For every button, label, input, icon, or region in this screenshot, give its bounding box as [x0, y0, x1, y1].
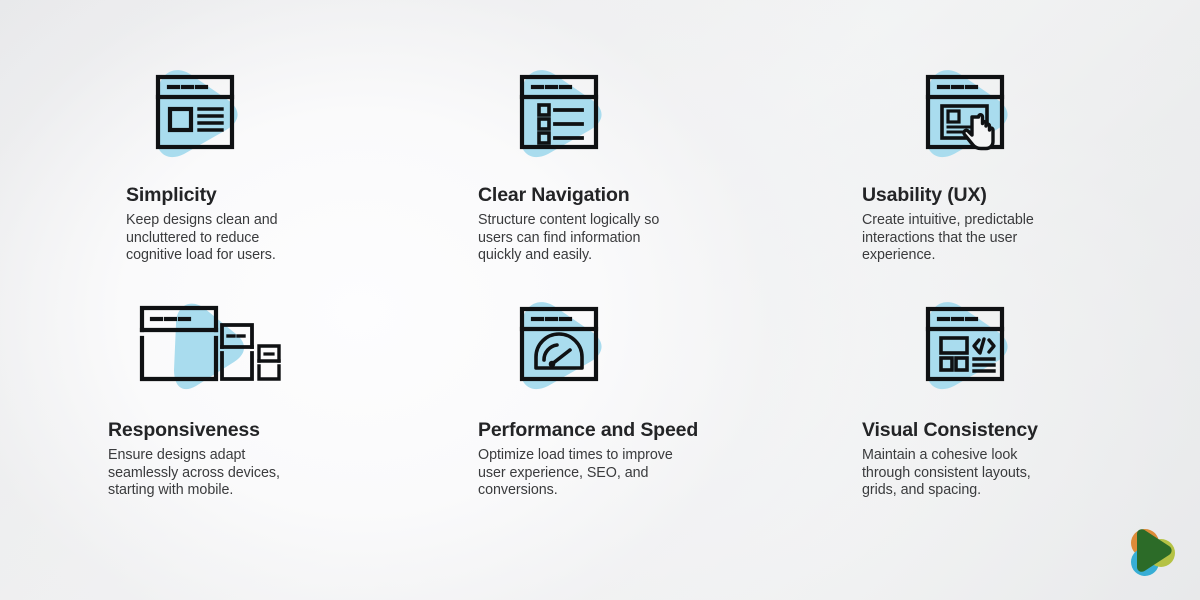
feature-card-simplicity: Simplicity Keep designs clean and unclut…	[126, 60, 456, 264]
feature-card-performance-and-speed: Performance and Speed Optimize load time…	[478, 292, 808, 499]
card-title: Clear Navigation	[478, 164, 808, 207]
card-description: Ensure designs adapt seamlessly across d…	[108, 447, 308, 499]
feature-card-visual-consistency: Visual Consistency Maintain a cohesive l…	[862, 292, 1192, 499]
browser-window-checklist-icon	[508, 60, 612, 164]
card-title: Responsiveness	[108, 396, 438, 442]
icon-container	[508, 60, 628, 164]
icon-container	[914, 60, 1034, 164]
card-title: Simplicity	[126, 164, 456, 207]
card-description: Optimize load times to improve user expe…	[478, 447, 708, 499]
browser-window-layout-icon	[144, 60, 248, 164]
card-description: Structure content logically so users can…	[478, 212, 693, 264]
play-button-logo[interactable]	[1119, 522, 1181, 584]
icon-container	[508, 292, 628, 396]
card-description: Keep designs clean and uncluttered to re…	[126, 212, 341, 264]
card-description: Create intuitive, predictable interactio…	[862, 212, 1072, 264]
browser-window-code-grid-icon	[914, 292, 1018, 396]
card-title: Performance and Speed	[478, 396, 808, 442]
card-description: Maintain a cohesive look through consist…	[862, 447, 1072, 499]
browser-window-speedometer-icon	[508, 292, 612, 396]
feature-card-responsiveness: Responsiveness Ensure designs adapt seam…	[108, 292, 438, 499]
icon-container	[122, 292, 292, 396]
card-title: Visual Consistency	[862, 396, 1192, 442]
icon-container	[914, 292, 1034, 396]
feature-card-clear-navigation: Clear Navigation Structure content logic…	[478, 60, 808, 264]
icon-container	[144, 60, 264, 164]
infographic-canvas: Simplicity Keep designs clean and unclut…	[0, 0, 1200, 600]
multi-device-responsive-icon	[122, 292, 292, 396]
feature-card-grid: Simplicity Keep designs clean and unclut…	[0, 0, 1200, 600]
feature-card-usability-ux: Usability (UX) Create intuitive, predict…	[862, 60, 1192, 264]
browser-window-click-cursor-icon	[914, 60, 1018, 164]
card-title: Usability (UX)	[862, 164, 1192, 207]
